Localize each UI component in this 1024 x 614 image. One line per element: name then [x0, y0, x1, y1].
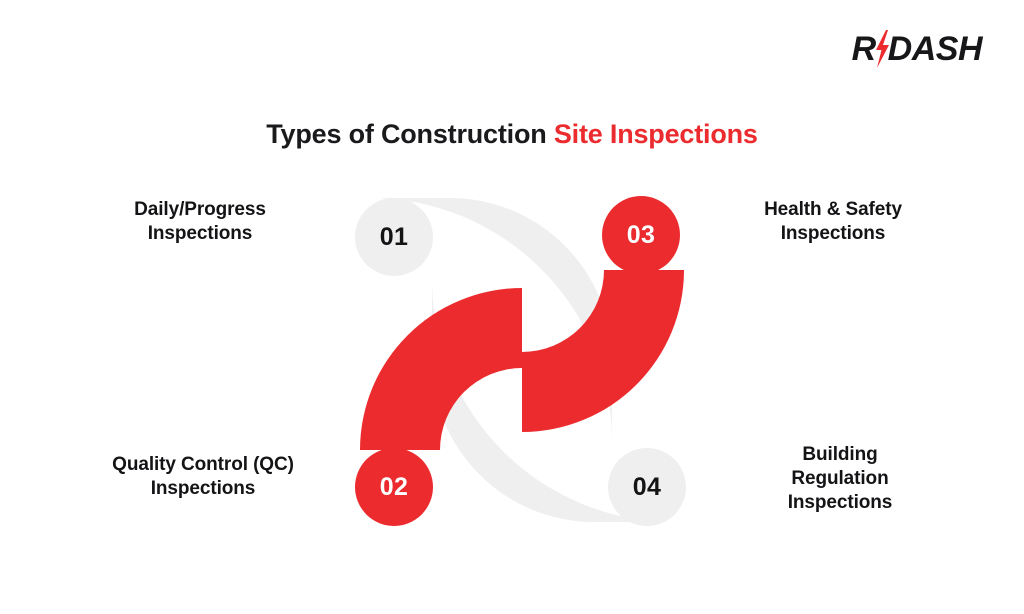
page-title-accent: Site Inspections — [554, 119, 758, 149]
badge-04-number: 04 — [633, 473, 661, 502]
label-01-line-2: Inspections — [80, 222, 320, 246]
label-building-regulation-inspections: Building Regulation Inspections — [740, 443, 940, 515]
badge-04[interactable]: 04 — [608, 448, 686, 526]
label-02-line-1: Quality Control (QC) — [72, 453, 334, 477]
label-quality-control-inspections: Quality Control (QC) Inspections — [72, 453, 334, 501]
label-health-safety-inspections: Health & Safety Inspections — [722, 198, 944, 246]
label-04-line-3: Inspections — [740, 491, 940, 515]
brand-logo: R DASH — [852, 28, 982, 70]
badge-02-number: 02 — [380, 473, 408, 502]
page-title: Types of Construction Site Inspections — [0, 118, 1024, 150]
badge-03[interactable]: 03 — [602, 196, 680, 274]
label-01-line-1: Daily/Progress — [80, 198, 320, 222]
red-ribbon-left — [360, 288, 522, 450]
label-03-line-2: Inspections — [722, 222, 944, 246]
red-ribbon-right — [522, 270, 684, 432]
brand-logo-letter-r: R — [852, 32, 876, 66]
brand-logo-word-dash: DASH — [888, 32, 982, 66]
label-02-line-2: Inspections — [72, 477, 334, 501]
label-04-line-2: Regulation — [740, 467, 940, 491]
badge-01-number: 01 — [380, 223, 408, 252]
label-03-line-1: Health & Safety — [722, 198, 944, 222]
label-04-line-1: Building — [740, 443, 940, 467]
label-daily-progress-inspections: Daily/Progress Inspections — [80, 198, 320, 246]
badge-01[interactable]: 01 — [355, 198, 433, 276]
page-title-plain: Types of Construction — [266, 119, 546, 149]
badge-03-number: 03 — [627, 221, 655, 250]
lightning-bolt-icon — [874, 32, 889, 66]
badge-02[interactable]: 02 — [355, 448, 433, 526]
